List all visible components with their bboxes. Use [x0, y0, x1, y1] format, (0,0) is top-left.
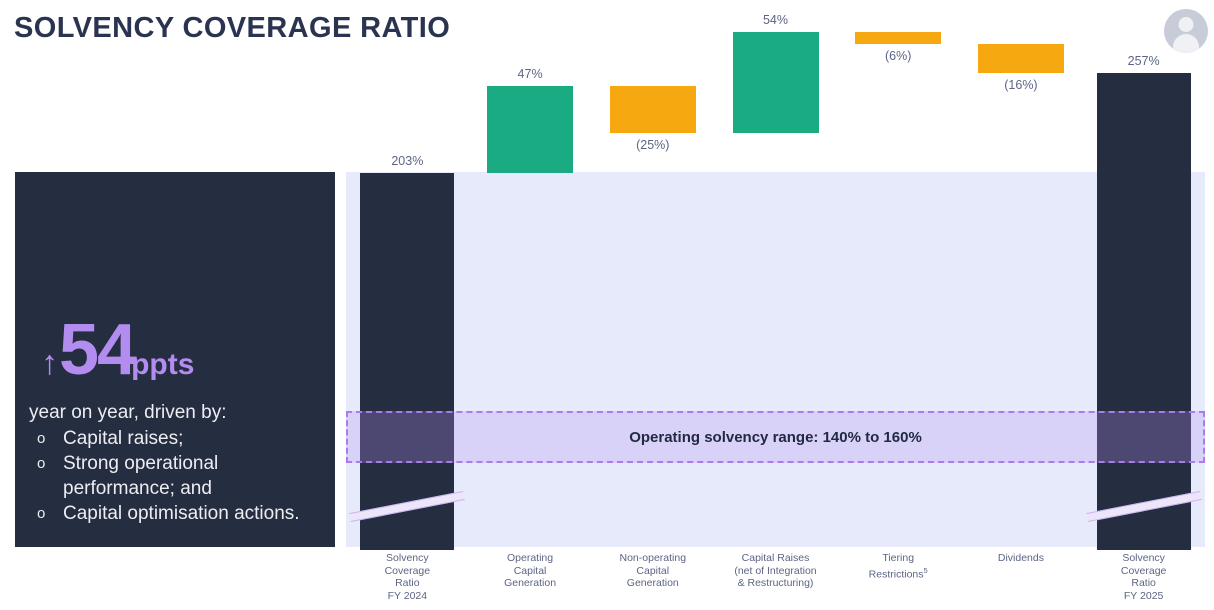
commentary-body: year on year, driven by: o Capital raise… — [29, 400, 329, 526]
bullet-marker-icon: o — [37, 451, 45, 476]
bar-value-label: (6%) — [853, 49, 943, 63]
commentary-lead: year on year, driven by: — [29, 400, 329, 425]
x-axis-label: Operating Capital Generation — [461, 552, 600, 590]
list-item-label: Capital optimisation actions. — [63, 503, 300, 524]
footnote-marker: 5 — [924, 566, 928, 575]
kpi-value: 54 — [59, 314, 135, 386]
x-axis-label: Capital Raises (net of Integration & Res… — [706, 552, 845, 590]
bar-value-label: (25%) — [608, 138, 698, 152]
avatar-head-shape — [1179, 17, 1194, 32]
list-item-label: Capital raises; — [63, 428, 183, 449]
x-axis-label: Solvency Coverage Ratio FY 2024 — [338, 552, 477, 602]
bullet-marker-icon: o — [37, 426, 45, 451]
slide-root: SOLVENCY COVERAGE RATIO ↑ 54 ppts year o… — [0, 0, 1214, 610]
chart-bar[interactable] — [1097, 73, 1191, 550]
chart-bar[interactable] — [733, 32, 819, 132]
page-title: SOLVENCY COVERAGE RATIO — [14, 12, 450, 45]
kpi-unit: ppts — [131, 350, 194, 380]
chart-x-axis-labels: Solvency Coverage Ratio FY 2024Operating… — [346, 552, 1205, 610]
bar-value-label: 47% — [485, 67, 575, 81]
list-item: o Capital optimisation actions. — [29, 501, 329, 526]
band-label: Operating solvency range: 140% to 160% — [346, 411, 1205, 463]
bar-value-label: 54% — [731, 13, 821, 27]
x-axis-label: Tiering Restrictions5 — [829, 552, 968, 581]
user-avatar-icon[interactable] — [1164, 9, 1208, 53]
avatar-body-shape — [1173, 34, 1199, 53]
chart-plot-area: 203%47%(25%)54%(6%)(16%)257% — [346, 172, 1205, 547]
list-item-label: Strong operational performance; and — [63, 453, 218, 499]
waterfall-chart: 203%47%(25%)54%(6%)(16%)257% Operating s… — [346, 172, 1205, 547]
kpi-headline: ↑ 54 ppts — [41, 314, 194, 386]
chart-bar[interactable] — [978, 44, 1064, 74]
x-axis-label: Solvency Coverage Ratio FY 2025 — [1074, 552, 1213, 602]
chart-bar[interactable] — [855, 32, 941, 43]
x-axis-label: Dividends — [952, 552, 1091, 565]
kpi-up-arrow-icon: ↑ — [41, 346, 58, 380]
commentary-bullet-list: o Capital raises; o Strong operational p… — [29, 426, 329, 526]
bar-value-label: 203% — [362, 154, 452, 168]
chart-bar[interactable] — [360, 173, 454, 550]
x-axis-label: Non-operating Capital Generation — [583, 552, 722, 590]
list-item: o Strong operational performance; and — [29, 451, 329, 501]
bar-value-label: (16%) — [976, 78, 1066, 92]
chart-bar[interactable] — [610, 86, 696, 132]
bullet-marker-icon: o — [37, 501, 45, 526]
commentary-panel: ↑ 54 ppts year on year, driven by: o Cap… — [15, 172, 335, 547]
list-item: o Capital raises; — [29, 426, 329, 451]
bar-value-label: 257% — [1099, 54, 1189, 68]
chart-bar[interactable] — [487, 86, 573, 173]
